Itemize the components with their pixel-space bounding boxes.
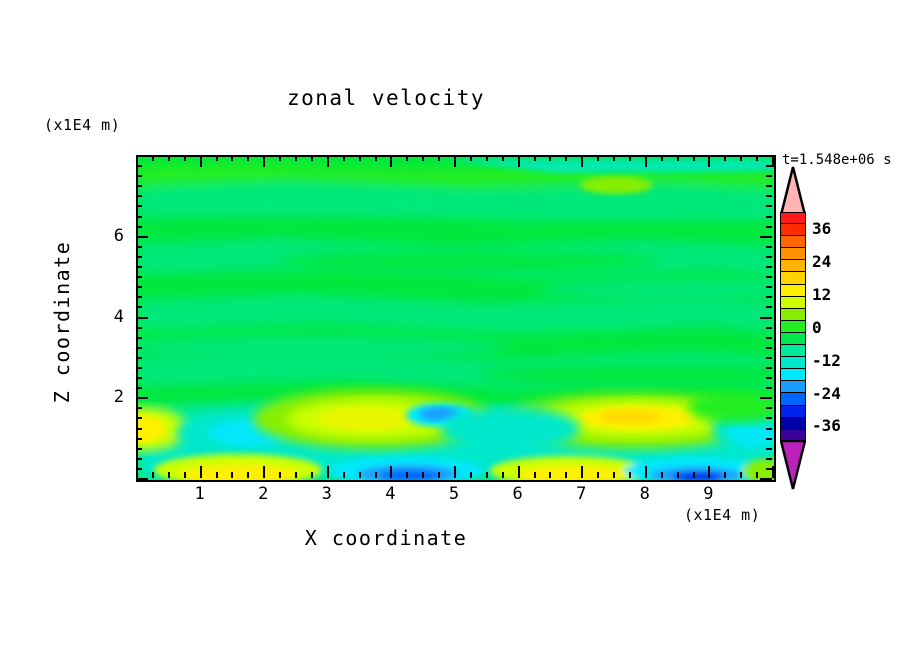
x-tick-label: 3	[307, 484, 347, 504]
colorbar-band	[780, 309, 806, 321]
colorbar-tick-label: 12	[812, 285, 831, 304]
colorbar-band	[780, 272, 806, 284]
y-axis-title: Z coordinate	[50, 172, 74, 472]
colorbar-tick-label: -24	[812, 384, 841, 403]
x-tick-label: 8	[625, 484, 665, 504]
x-tick-label: 5	[434, 484, 474, 504]
colorbar-over-arrow	[780, 166, 806, 216]
colorbar-band	[780, 321, 806, 333]
colorbar-band	[780, 260, 806, 272]
x-tick-label: 1	[180, 484, 220, 504]
contour-plot-area	[136, 155, 776, 482]
colorbar-band	[780, 224, 806, 236]
x-axis-unit-label: (x1E4 m)	[684, 506, 760, 524]
y-tick-label: 6	[96, 226, 124, 246]
colorbar	[780, 212, 806, 442]
colorbar-band	[780, 357, 806, 369]
page-title: zonal velocity	[0, 86, 772, 110]
x-tick-label: 9	[688, 484, 728, 504]
colorbar-band	[780, 297, 806, 309]
colorbar-tick-label: -36	[812, 416, 841, 435]
colorbar-band	[780, 333, 806, 345]
figure-root: zonal velocity (x1E4 m) (x1E4 m) X coord…	[0, 0, 904, 654]
colorbar-band	[780, 369, 806, 381]
contour-field	[138, 157, 774, 480]
colorbar-band	[780, 212, 806, 224]
colorbar-band	[780, 393, 806, 405]
colorbar-tick-label: 0	[812, 318, 822, 337]
colorbar-band	[780, 345, 806, 357]
y-tick-label: 2	[96, 387, 124, 407]
colorbar-band	[780, 236, 806, 248]
colorbar-under-arrow	[780, 440, 806, 490]
colorbar-band	[780, 285, 806, 297]
colorbar-tick-label: 36	[812, 219, 831, 238]
colorbar-band	[780, 418, 806, 430]
y-tick-label: 4	[96, 307, 124, 327]
colorbar-band	[780, 381, 806, 393]
x-tick-label: 2	[243, 484, 283, 504]
x-tick-label: 7	[561, 484, 601, 504]
x-tick-label: 6	[498, 484, 538, 504]
x-axis-title: X coordinate	[0, 526, 772, 550]
colorbar-band	[780, 248, 806, 260]
colorbar-band	[780, 406, 806, 418]
y-axis-unit-label: (x1E4 m)	[44, 116, 120, 134]
colorbar-tick-label: 24	[812, 252, 831, 271]
colorbar-tick-label: -12	[812, 351, 841, 370]
x-tick-label: 4	[370, 484, 410, 504]
